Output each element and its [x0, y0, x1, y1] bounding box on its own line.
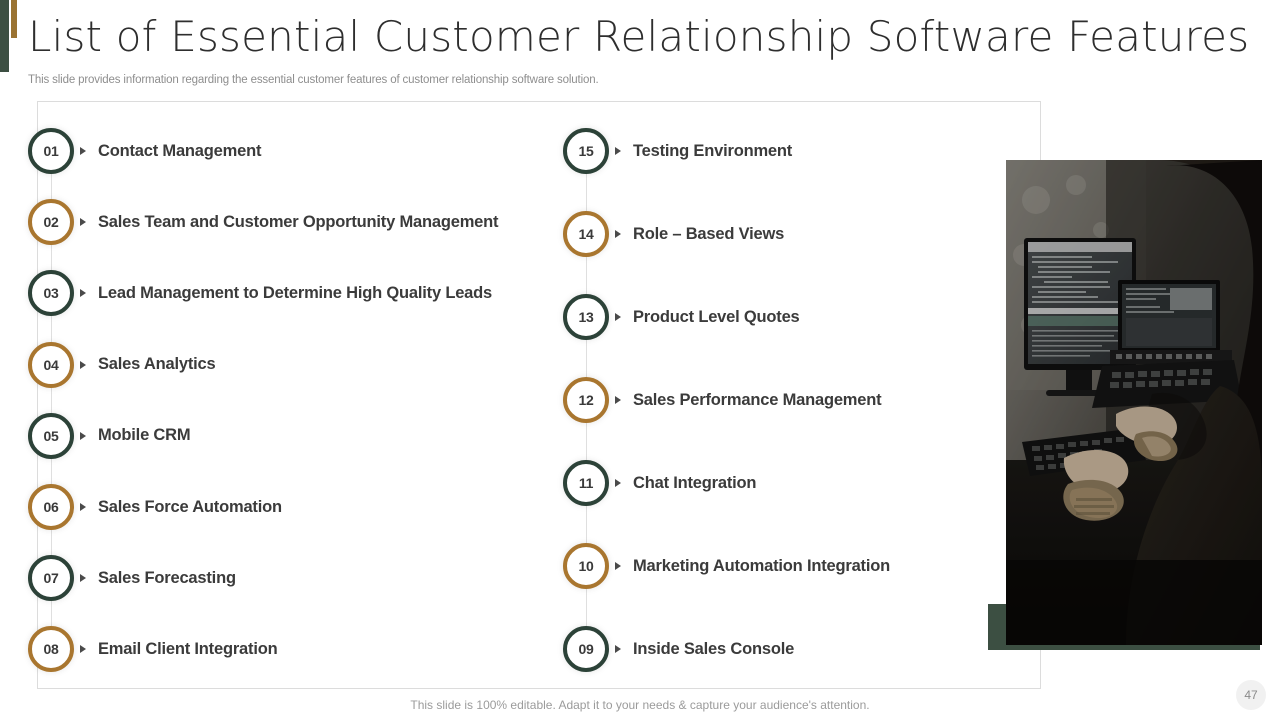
- step-number: 06: [44, 499, 59, 515]
- feature-label: Contact Management: [98, 142, 261, 161]
- feature-item-left-05[interactable]: 05Mobile CRM: [28, 408, 190, 464]
- step-number: 11: [579, 475, 593, 491]
- arrow-right-icon: [80, 289, 86, 297]
- footer-note: This slide is 100% editable. Adapt it to…: [0, 698, 1280, 712]
- feature-item-left-01[interactable]: 01Contact Management: [28, 123, 261, 179]
- feature-item-right-11[interactable]: 11Chat Integration: [563, 455, 756, 511]
- step-number: 15: [579, 143, 594, 159]
- step-number: 13: [579, 309, 594, 325]
- step-number: 01: [44, 143, 59, 159]
- feature-item-right-10[interactable]: 10Marketing Automation Integration: [563, 538, 890, 594]
- feature-item-left-02[interactable]: 02Sales Team and Customer Opportunity Ma…: [28, 194, 498, 250]
- step-number: 05: [44, 428, 59, 444]
- page-subtitle: This slide provides information regardin…: [28, 74, 599, 86]
- feature-label: Product Level Quotes: [633, 308, 800, 327]
- arrow-right-icon: [80, 432, 86, 440]
- arrow-right-icon: [615, 147, 621, 155]
- step-circle-08: 08: [28, 626, 74, 672]
- step-number: 03: [44, 285, 59, 301]
- feature-label: Chat Integration: [633, 474, 756, 493]
- feature-label: Email Client Integration: [98, 640, 277, 659]
- feature-label: Mobile CRM: [98, 426, 190, 445]
- arrow-right-icon: [80, 645, 86, 653]
- workstation-photo: [1006, 160, 1262, 645]
- arrow-right-icon: [80, 361, 86, 369]
- feature-label: Testing Environment: [633, 142, 792, 161]
- step-circle-03: 03: [28, 270, 74, 316]
- feature-label: Marketing Automation Integration: [633, 557, 890, 576]
- feature-item-left-07[interactable]: 07Sales Forecasting: [28, 550, 236, 606]
- step-number: 09: [579, 641, 594, 657]
- step-number: 12: [579, 392, 594, 408]
- feature-label: Sales Force Automation: [98, 498, 282, 517]
- step-circle-06: 06: [28, 484, 74, 530]
- step-circle-13: 13: [563, 294, 609, 340]
- step-circle-04: 04: [28, 342, 74, 388]
- step-circle-14: 14: [563, 211, 609, 257]
- step-number: 02: [44, 214, 59, 230]
- feature-item-right-12[interactable]: 12Sales Performance Management: [563, 372, 881, 428]
- arrow-right-icon: [80, 218, 86, 226]
- arrow-right-icon: [80, 503, 86, 511]
- arrow-right-icon: [80, 147, 86, 155]
- page-number-badge: 47: [1236, 680, 1266, 710]
- arrow-right-icon: [615, 645, 621, 653]
- header-accent-bar-gold: [11, 0, 17, 38]
- step-circle-02: 02: [28, 199, 74, 245]
- feature-item-right-09[interactable]: 09Inside Sales Console: [563, 621, 794, 677]
- feature-label: Role – Based Views: [633, 225, 784, 244]
- feature-item-left-06[interactable]: 06Sales Force Automation: [28, 479, 282, 535]
- step-circle-10: 10: [563, 543, 609, 589]
- step-circle-12: 12: [563, 377, 609, 423]
- feature-item-right-15[interactable]: 15Testing Environment: [563, 123, 792, 179]
- feature-item-left-08[interactable]: 08Email Client Integration: [28, 621, 277, 677]
- page-title: List of Essential Customer Relationship …: [28, 12, 1249, 61]
- arrow-right-icon: [615, 479, 621, 487]
- arrow-right-icon: [615, 230, 621, 238]
- step-number: 10: [579, 558, 594, 574]
- step-number: 14: [579, 226, 594, 242]
- feature-label: Inside Sales Console: [633, 640, 794, 659]
- feature-label: Lead Management to Determine High Qualit…: [98, 284, 492, 303]
- step-circle-05: 05: [28, 413, 74, 459]
- arrow-right-icon: [615, 562, 621, 570]
- step-circle-15: 15: [563, 128, 609, 174]
- feature-label: Sales Team and Customer Opportunity Mana…: [98, 213, 498, 232]
- workstation-photo-graphic: [1006, 160, 1262, 645]
- feature-label: Sales Performance Management: [633, 391, 881, 410]
- step-circle-07: 07: [28, 555, 74, 601]
- slide-canvas: List of Essential Customer Relationship …: [0, 0, 1280, 720]
- step-number: 07: [44, 570, 59, 586]
- header-accent-bar-green: [0, 0, 9, 72]
- feature-label: Sales Forecasting: [98, 569, 236, 588]
- step-number: 08: [44, 641, 59, 657]
- step-number: 04: [44, 357, 59, 373]
- step-circle-09: 09: [563, 626, 609, 672]
- arrow-right-icon: [615, 313, 621, 321]
- feature-item-left-03[interactable]: 03Lead Management to Determine High Qual…: [28, 265, 492, 321]
- step-circle-01: 01: [28, 128, 74, 174]
- feature-label: Sales Analytics: [98, 355, 215, 374]
- feature-item-left-04[interactable]: 04Sales Analytics: [28, 337, 215, 393]
- feature-item-right-13[interactable]: 13Product Level Quotes: [563, 289, 800, 345]
- feature-item-right-14[interactable]: 14Role – Based Views: [563, 206, 784, 262]
- arrow-right-icon: [615, 396, 621, 404]
- step-circle-11: 11: [563, 460, 609, 506]
- arrow-right-icon: [80, 574, 86, 582]
